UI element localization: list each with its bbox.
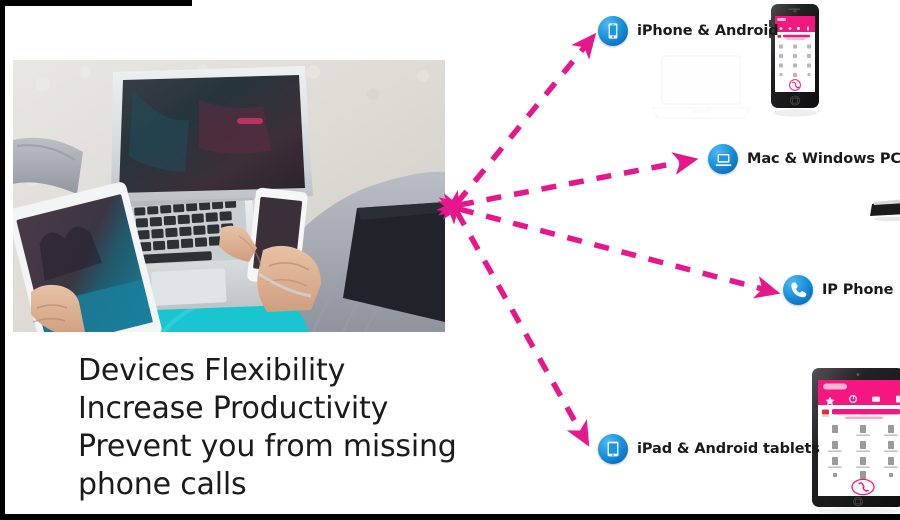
frame-bottom-border: [0, 514, 900, 520]
ghost-laptop-image: [648, 52, 754, 126]
arrow-to-mac-windows-pc: [459, 160, 692, 205]
frame-top-bar: [0, 0, 192, 6]
ipad-dialer-illustration: [808, 365, 900, 515]
node-label-ip-phone: IP Phone: [822, 282, 893, 298]
arrow-to-iphone-android: [457, 38, 592, 203]
desk-phone-image: [866, 196, 900, 222]
headline-line-1: Devices Flexibility: [78, 352, 498, 390]
handset-icon: [783, 275, 813, 305]
headline-text: Devices Flexibility Increase Productivit…: [78, 352, 498, 504]
desk-phone-icon: [866, 196, 900, 222]
headline-line-2: Increase Productivity: [78, 390, 498, 428]
hero-photo-illustration: [13, 60, 445, 332]
headline-line-4: phone calls: [78, 466, 498, 504]
arrow-to-ip-phone: [459, 209, 774, 292]
node-label-ipad-android-tablets: iPad & Android tablets: [637, 441, 820, 457]
tablet-icon: [598, 434, 628, 464]
smartphone-icon: [598, 16, 628, 46]
ipad-product-image: [808, 365, 900, 515]
node-iphone-android[interactable]: iPhone & Android: [598, 16, 779, 46]
laptop-icon: [708, 144, 738, 174]
frame-left-border: [0, 0, 5, 520]
node-label-iphone-android: iPhone & Android: [637, 23, 779, 39]
node-label-mac-windows-pc: Mac & Windows PC: [747, 151, 900, 167]
hero-photo: [13, 60, 445, 332]
headline-line-3: Prevent you from missing: [78, 428, 498, 466]
node-ipad-android-tablets[interactable]: iPad & Android tablets: [598, 434, 820, 464]
node-ip-phone[interactable]: IP Phone: [783, 275, 893, 305]
node-mac-windows-pc[interactable]: Mac & Windows PC: [708, 144, 900, 174]
ghost-laptop-icon: [648, 52, 754, 126]
slide-canvas: Devices Flexibility Increase Productivit…: [0, 0, 900, 520]
